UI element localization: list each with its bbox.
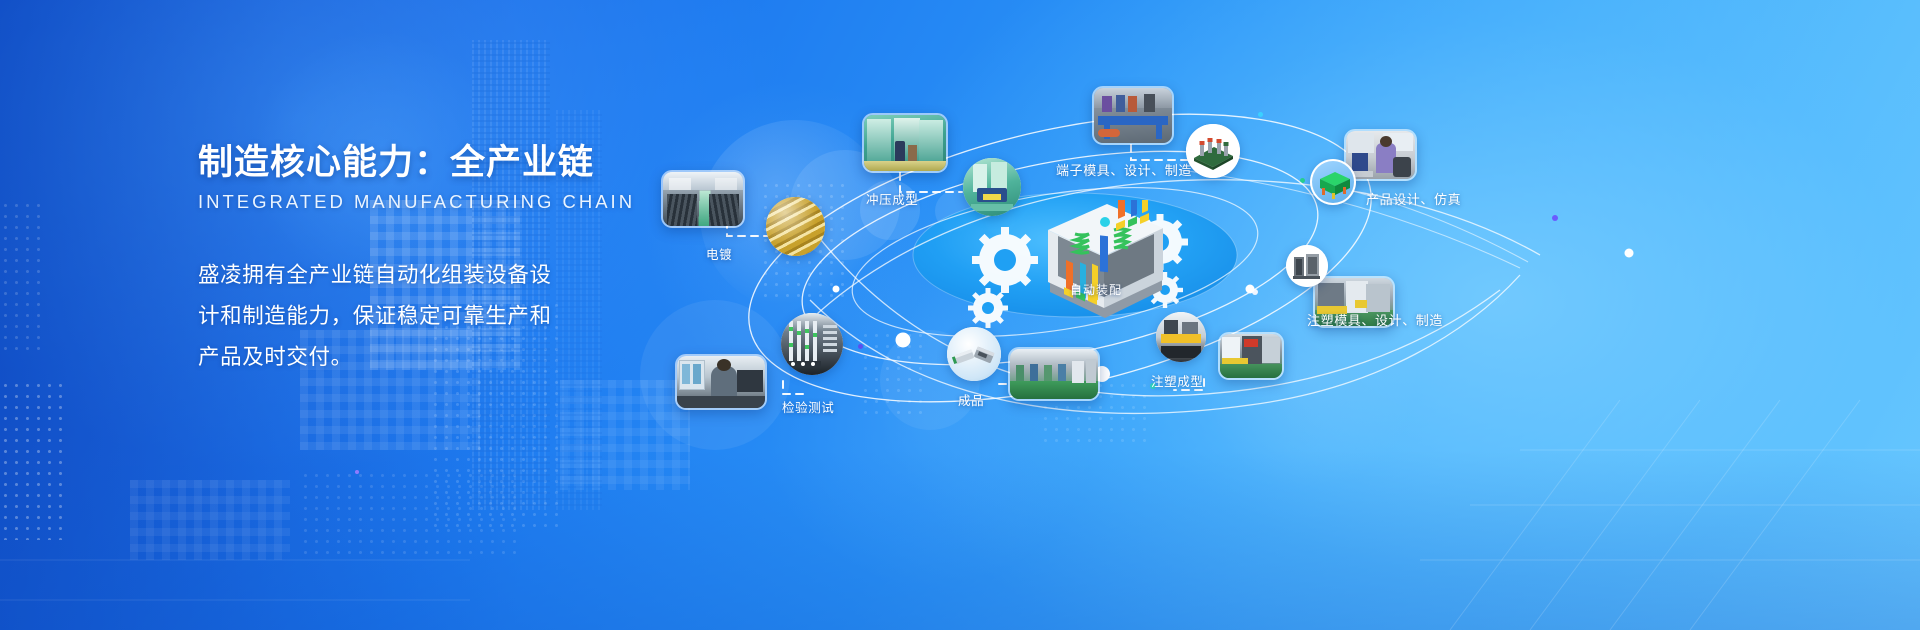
- photo-stamping[interactable]: [862, 113, 948, 173]
- photo-injection-molding[interactable]: [1218, 332, 1284, 380]
- injection-mold-icon[interactable]: [1286, 245, 1328, 287]
- finished-product-icon[interactable]: [947, 327, 1001, 381]
- label-terminal-mold: 端子模具、设计、制造: [1056, 160, 1192, 179]
- label-inspection-test: 检验测试: [782, 397, 834, 416]
- label-injection-mold: 注塑模具、设计、制造: [1307, 310, 1443, 329]
- photo-assembly-line[interactable]: [1008, 347, 1100, 401]
- label-stamping: 冲压成型: [866, 189, 918, 208]
- product-design-icon[interactable]: [1310, 159, 1356, 205]
- label-product-design: 产品设计、仿真: [1366, 189, 1461, 208]
- center-label-automatic-assembly: 自动装配: [1070, 281, 1122, 298]
- photo-electroplating[interactable]: [661, 170, 745, 228]
- label-electroplating: 电镀: [706, 244, 732, 263]
- label-injection-molding: 注塑成型: [1151, 371, 1203, 390]
- stamping-icon[interactable]: [963, 158, 1021, 216]
- photo-product-design[interactable]: [1344, 129, 1417, 181]
- hero-banner: 制造核心能力：全产业链 INTEGRATED MANUFACTURING CHA…: [0, 0, 1920, 630]
- gear-icon: [972, 227, 1038, 293]
- injection-molding-icon[interactable]: [1156, 312, 1206, 362]
- terminal-mold-icon[interactable]: [1186, 124, 1240, 178]
- photo-inspection[interactable]: [675, 354, 767, 410]
- automatic-assembly-mold-icon: [1030, 200, 1180, 325]
- photo-terminal-mold[interactable]: [1092, 86, 1174, 145]
- manufacturing-chain-diagram: 自动装配 电镀 冲压成型: [0, 0, 1920, 630]
- gear-icon: [968, 288, 1008, 328]
- inspection-test-icon[interactable]: [781, 313, 843, 375]
- label-finished-product: 成品: [958, 390, 984, 409]
- electroplating-icon[interactable]: [766, 197, 825, 256]
